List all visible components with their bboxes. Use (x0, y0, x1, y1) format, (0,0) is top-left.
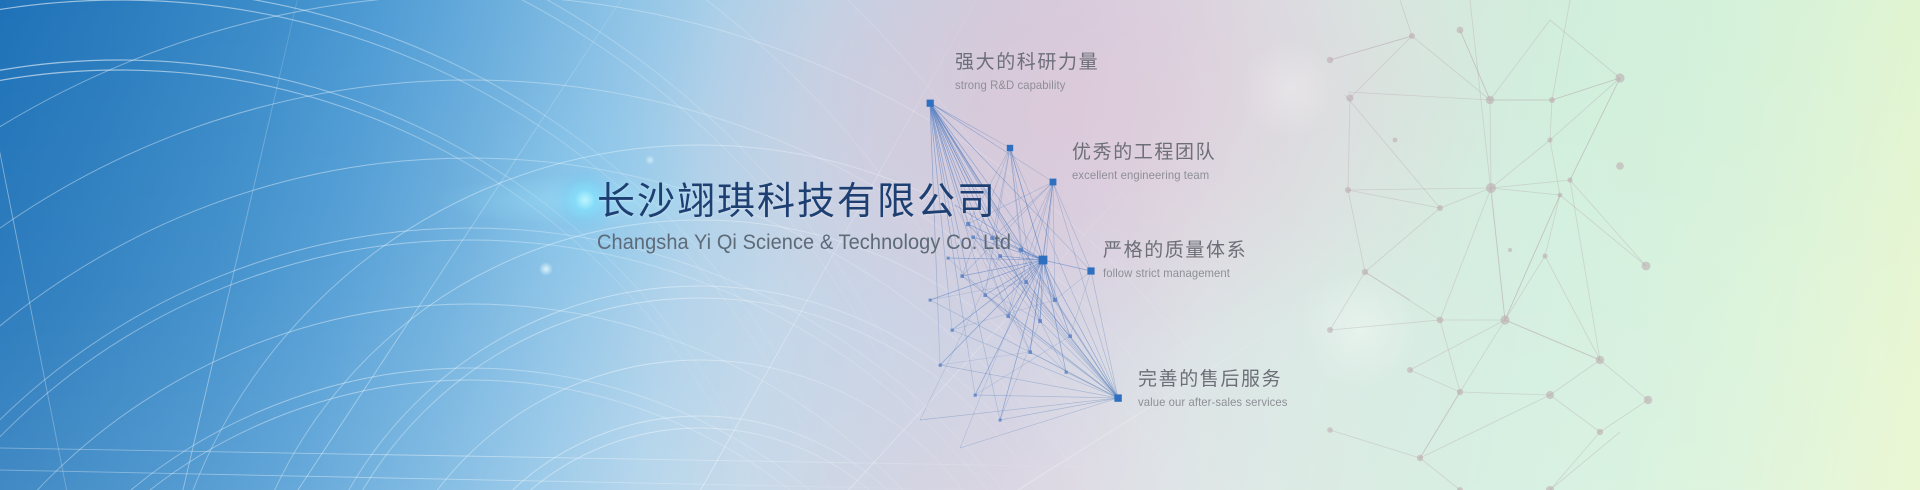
feature-label-en-2: follow strict management (1103, 266, 1239, 280)
feature-item-rd: 强大的科研力量 strong R&D capability (955, 50, 1099, 92)
feature-label-en-0: strong R&D capability (955, 78, 1091, 92)
feature-label-en-1: excellent engineering team (1072, 168, 1209, 182)
company-name-cn: 长沙翊琪科技有限公司 (597, 178, 1117, 226)
feature-item-aftersales: 完善的售后服务 value our after-sales services (1138, 367, 1297, 409)
company-hero-banner: 长沙翊琪科技有限公司 Changsha Yi Qi Science & Tech… (0, 0, 1920, 490)
feature-item-engineering: 优秀的工程团队 excellent engineering team (1072, 140, 1218, 182)
feature-label-en-3: value our after-sales services (1138, 395, 1288, 409)
feature-item-quality: 严格的质量体系 follow strict management (1103, 238, 1247, 280)
feature-label-cn-0: 强大的科研力量 (955, 50, 1099, 75)
feature-label-cn-3: 完善的售后服务 (1138, 367, 1297, 392)
feature-label-cn-2: 严格的质量体系 (1103, 238, 1247, 263)
feature-label-cn-1: 优秀的工程团队 (1072, 140, 1218, 165)
company-title-block: 长沙翊琪科技有限公司 Changsha Yi Qi Science & Tech… (597, 178, 1117, 255)
company-name-en: Changsha Yi Qi Science & Technology Co. … (597, 231, 1091, 255)
